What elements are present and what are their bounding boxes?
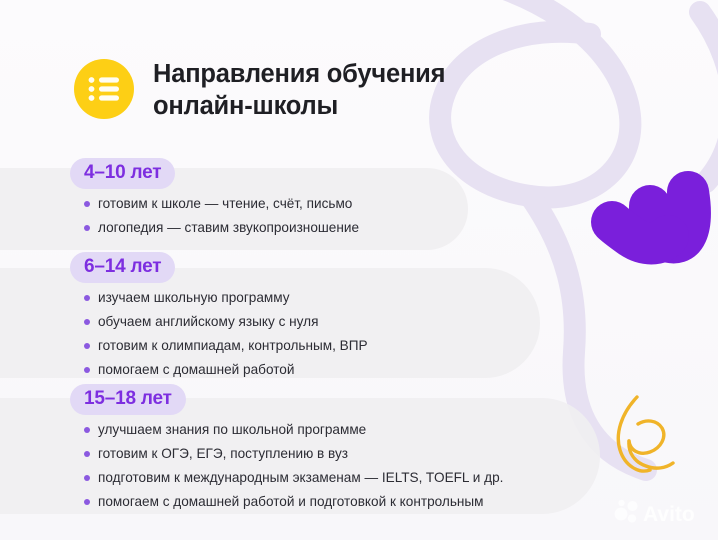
list-item: готовим к ОГЭ, ЕГЭ, поступлению в вуз (84, 447, 718, 461)
poster-content: Направления обучения онлайн-школы 4–10 л… (0, 0, 718, 540)
list-glyph (87, 76, 121, 102)
list-item: готовим к школе — чтение, счёт, письмо (84, 197, 718, 211)
age-badge: 6–14 лет (70, 252, 175, 283)
avito-logo-icon: Avito (614, 497, 706, 525)
section-age-4-10: 4–10 лет готовим к школе — чтение, счёт,… (0, 158, 718, 235)
benefit-list: изучаем школьную программу обучаем англи… (0, 291, 718, 377)
age-badge: 4–10 лет (70, 158, 175, 189)
age-badge: 15–18 лет (70, 384, 186, 415)
benefit-list: готовим к школе — чтение, счёт, письмо л… (0, 197, 718, 235)
list-item: обучаем английскому языку с нуля (84, 315, 718, 329)
section-age-6-14: 6–14 лет изучаем школьную программу обуч… (0, 252, 718, 377)
benefit-list: улучшаем знания по школьной программе го… (0, 423, 718, 509)
header: Направления обучения онлайн-школы (74, 56, 445, 122)
section-age-15-18: 15–18 лет улучшаем знания по школьной пр… (0, 384, 718, 509)
list-item: логопедия — ставим звукопроизношение (84, 221, 718, 235)
svg-text:Avito: Avito (643, 503, 695, 525)
bulleted-list-icon (74, 59, 134, 119)
list-item: подготовим к международным экзаменам — I… (84, 471, 718, 485)
avito-watermark: Avito (614, 497, 706, 530)
list-item: помогаем с домашней работой (84, 363, 718, 377)
list-item: готовим к олимпиадам, контрольным, ВПР (84, 339, 718, 353)
list-item: улучшаем знания по школьной программе (84, 423, 718, 437)
poster: Направления обучения онлайн-школы 4–10 л… (0, 0, 718, 540)
list-item: изучаем школьную программу (84, 291, 718, 305)
page-title: Направления обучения онлайн-школы (153, 56, 445, 122)
